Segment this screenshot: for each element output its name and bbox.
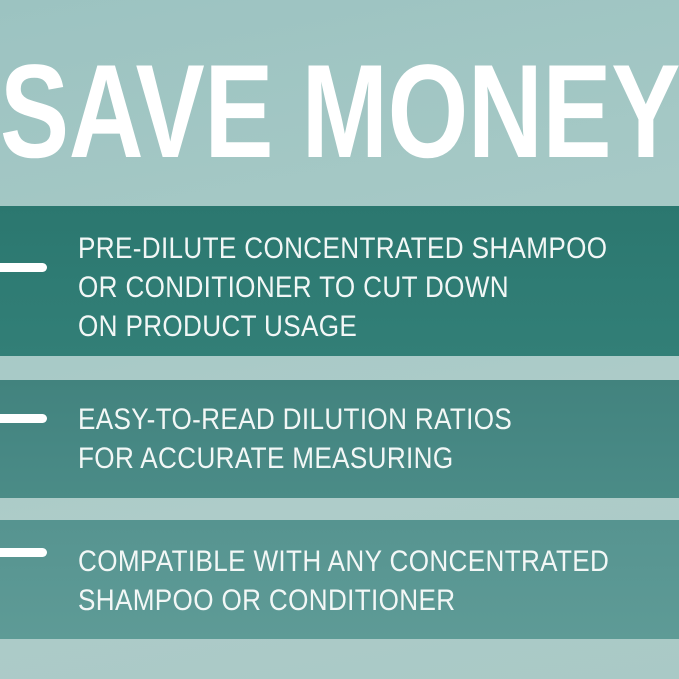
- feature-line: FOR ACCURATE MEASURING: [78, 439, 583, 478]
- dash-marker-icon: [0, 548, 47, 557]
- dash-marker-icon: [0, 414, 47, 423]
- page-title: SAVE MONEY: [0, 46, 679, 179]
- feature-band-2: EASY-TO-READ DILUTION RATIOS FOR ACCURAT…: [0, 380, 679, 498]
- product-feature-poster: SAVE MONEY PRE-DILUTE CONCENTRATED SHAMP…: [0, 0, 679, 679]
- feature-band-1: PRE-DILUTE CONCENTRATED SHAMPOO OR CONDI…: [0, 206, 679, 356]
- dash-marker-icon: [0, 263, 47, 272]
- feature-line: SHAMPOO OR CONDITIONER: [78, 581, 583, 620]
- poster-title-container: SAVE MONEY: [0, 42, 679, 182]
- feature-band-2-text: EASY-TO-READ DILUTION RATIOS FOR ACCURAT…: [78, 400, 583, 478]
- feature-line: OR CONDITIONER TO CUT DOWN: [78, 268, 583, 307]
- feature-line: EASY-TO-READ DILUTION RATIOS: [78, 400, 583, 439]
- feature-band-3: COMPATIBLE WITH ANY CONCENTRATED SHAMPOO…: [0, 520, 679, 639]
- feature-band-1-text: PRE-DILUTE CONCENTRATED SHAMPOO OR CONDI…: [78, 229, 583, 346]
- feature-line: ON PRODUCT USAGE: [78, 307, 583, 346]
- feature-band-3-text: COMPATIBLE WITH ANY CONCENTRATED SHAMPOO…: [78, 542, 583, 620]
- feature-line: PRE-DILUTE CONCENTRATED SHAMPOO: [78, 229, 583, 268]
- feature-line: COMPATIBLE WITH ANY CONCENTRATED: [78, 542, 583, 581]
